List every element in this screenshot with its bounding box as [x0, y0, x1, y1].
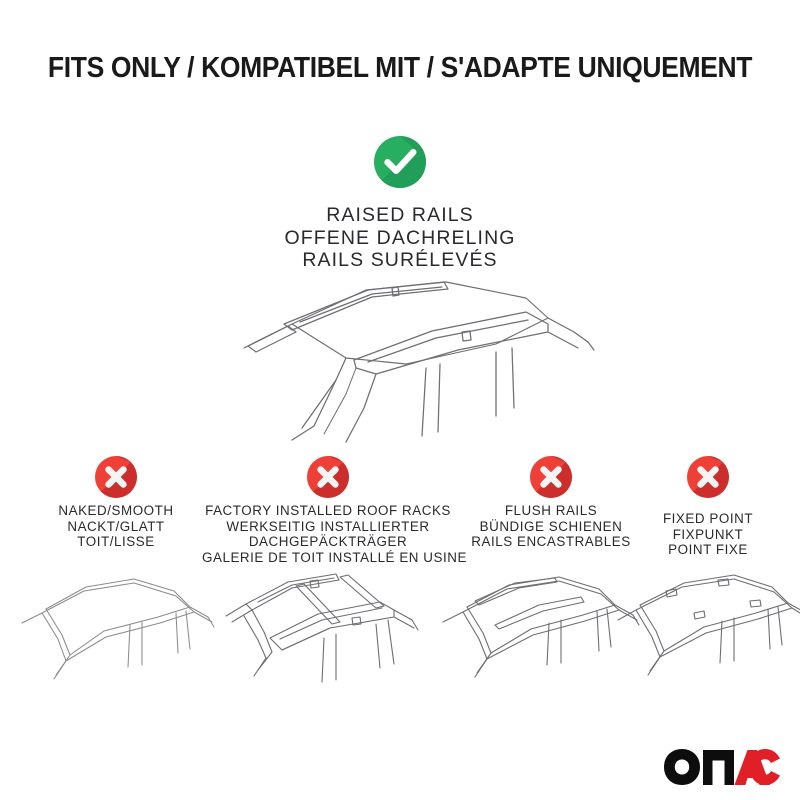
cross-circle-icon — [529, 455, 573, 499]
incompatible-label-de: NACKT/GLATT — [16, 519, 216, 535]
incompatible-label-en: FACTORY INSTALLED ROOF RACKS — [202, 503, 454, 519]
incompatible-labels: NAKED/SMOOTH NACKT/GLATT TOIT/LISSE — [16, 503, 216, 550]
incompatible-section: NAKED/SMOOTH NACKT/GLATT TOIT/LISSE — [0, 452, 800, 702]
incompatible-label-de: FIXPUNKT — [616, 527, 800, 543]
incompatible-label-en: FIXED POINT — [616, 511, 800, 527]
logo-letter-m — [703, 750, 734, 785]
incompatible-label-fr: TOIT/LISSE — [16, 534, 216, 550]
compatible-section: RAISED RAILS OFFENE DACHRELING RAILS SUR… — [0, 134, 800, 272]
cross-circle-icon — [94, 455, 138, 499]
compatible-labels: RAISED RAILS OFFENE DACHRELING RAILS SUR… — [0, 204, 800, 272]
incompatible-label-en: NAKED/SMOOTH — [16, 503, 216, 519]
logo-letter-c — [750, 749, 781, 785]
car-roof-factory-rack-illustration — [200, 566, 456, 711]
car-roof-naked-smooth-illustration — [8, 557, 224, 702]
incompatible-label-de-2: DACHGEPÄCKTRÄGER — [202, 534, 454, 550]
incompatible-label-fr: GALERIE DE TOIT INSTALLÉ EN USINE — [202, 550, 454, 566]
compatible-label-fr: RAILS SURÉLEVÉS — [0, 249, 800, 272]
car-roof-raised-rails-illustration — [196, 276, 616, 456]
incompatible-label-de-1: WERKSEITIG INSTALLIERTER — [202, 519, 454, 535]
car-roof-fixed-point-illustration — [610, 557, 800, 702]
cross-circle-icon — [686, 455, 730, 499]
page-title: FITS ONLY / KOMPATIBEL MIT / S'ADAPTE UN… — [28, 52, 772, 85]
check-circle-icon — [372, 134, 428, 190]
incompatible-label-fr: POINT FIXE — [616, 542, 800, 558]
compatible-label-en: RAISED RAILS — [0, 204, 800, 227]
incompatible-labels: FIXED POINT FIXPUNKT POINT FIXE — [616, 511, 800, 558]
cross-circle-icon — [306, 455, 350, 499]
omac-logo — [663, 748, 781, 786]
compatible-label-de: OFFENE DACHRELING — [0, 227, 800, 250]
incompatible-labels: FACTORY INSTALLED ROOF RACKS WERKSEITIG … — [202, 503, 454, 565]
logo-letter-o — [664, 749, 700, 785]
